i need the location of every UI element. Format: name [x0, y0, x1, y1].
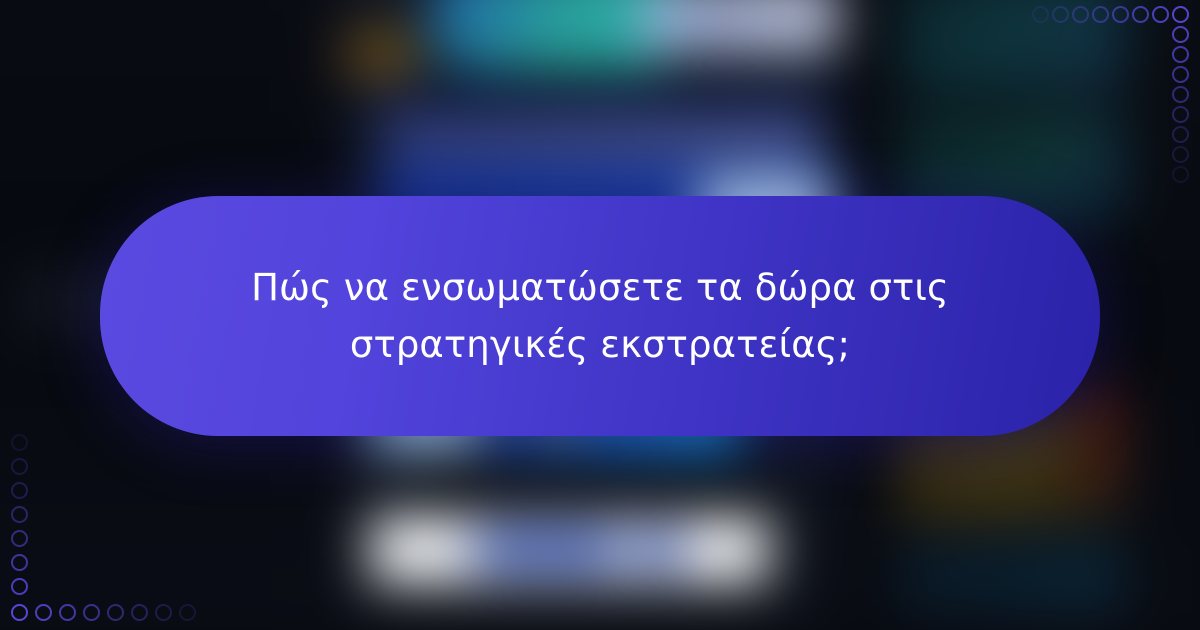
decoration-dot — [1172, 6, 1189, 23]
background-dark-bar — [430, 475, 750, 510]
decoration-dot — [35, 604, 52, 621]
decoration-dot — [1132, 6, 1149, 23]
decoration-dot — [11, 604, 28, 621]
decoration-dot — [1172, 66, 1189, 83]
decoration-dot — [1172, 126, 1189, 143]
background-right-accent-red — [1070, 380, 1130, 500]
decoration-dot — [11, 482, 28, 499]
decoration-dot — [1032, 6, 1049, 23]
background-cookie-button-secondary — [640, 532, 680, 566]
decoration-dot — [1112, 6, 1129, 23]
decoration-dot — [1172, 86, 1189, 103]
headline-card: Πώς να ενσωματώσετε τα δώρα στις στρατηγ… — [100, 196, 1100, 436]
decoration-dot — [83, 604, 100, 621]
background-nav-strip — [370, 85, 840, 115]
decoration-dot — [1172, 46, 1189, 63]
decoration-dot — [11, 434, 28, 451]
decoration-dot — [131, 604, 148, 621]
decoration-dot — [107, 604, 124, 621]
decoration-dot — [11, 506, 28, 523]
decoration-dot — [11, 530, 28, 547]
background-text-block — [380, 115, 820, 160]
background-hero-highlight — [640, 0, 840, 55]
headline-text: Πώς να ενσωματώσετε τα δώρα στις στρατηγ… — [250, 259, 950, 374]
decoration-dot — [1092, 6, 1109, 23]
background-cookie-button — [475, 532, 620, 566]
decoration-dot — [11, 458, 28, 475]
decoration-dot — [1172, 166, 1189, 183]
background-right-panel-four — [895, 535, 1125, 615]
decoration-dot — [155, 604, 172, 621]
decoration-dot — [11, 554, 28, 571]
decoration-dot — [1072, 6, 1089, 23]
background-right-panel-one — [895, 0, 1125, 90]
decoration-dot — [59, 604, 76, 621]
social-card-canvas: Πώς να ενσωματώσετε τα δώρα στις στρατηγ… — [0, 0, 1200, 630]
decoration-dot — [179, 604, 196, 621]
background-thumb-amber — [340, 30, 420, 80]
decoration-dot — [1052, 6, 1069, 23]
decoration-dot — [1152, 6, 1169, 23]
decoration-dot — [11, 578, 28, 595]
decoration-dot — [1172, 106, 1189, 123]
decoration-dot — [1172, 146, 1189, 163]
decoration-dot — [1172, 26, 1189, 43]
